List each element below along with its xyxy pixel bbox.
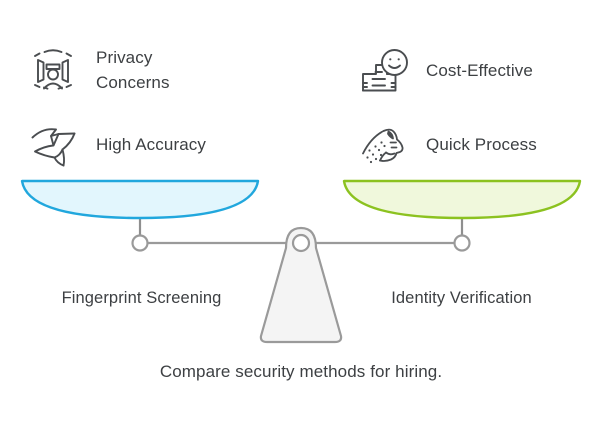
smiley-building-cost-icon xyxy=(356,44,410,98)
right-pan xyxy=(344,181,580,218)
face-scan-privacy-icon xyxy=(26,44,80,98)
bottom-caption: Compare security methods for hiring. xyxy=(0,362,602,382)
feature-label: High Accuracy xyxy=(96,133,206,158)
left-pan-caption: Fingerprint Screening xyxy=(0,289,283,308)
fulcrum-pivot xyxy=(293,235,309,251)
feature-label: Cost-Effective xyxy=(426,59,533,84)
feature-label: Quick Process xyxy=(426,133,537,158)
feature-privacy-concerns: Privacy Concerns xyxy=(26,44,170,98)
balance-scale-graphic xyxy=(0,160,602,360)
feature-label: Privacy Concerns xyxy=(96,46,170,95)
right-hanger-ring xyxy=(455,236,470,251)
balance-scale-infographic: Privacy Concerns High Accuracy xyxy=(0,0,602,435)
left-hanger-ring xyxy=(133,236,148,251)
left-pan xyxy=(22,181,258,218)
feature-cost-effective: Cost-Effective xyxy=(356,44,533,98)
right-pan-caption: Identity Verification xyxy=(320,289,602,308)
